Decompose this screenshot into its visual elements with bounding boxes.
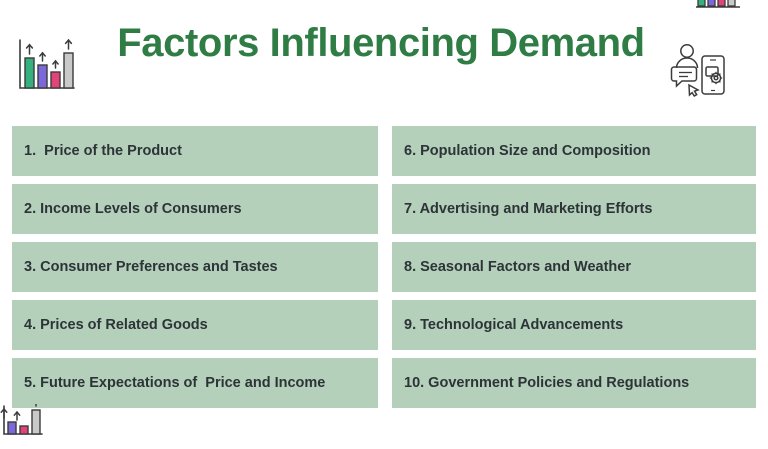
bar-chart-growth-icon — [12, 36, 78, 96]
bar-chart-growth-icon — [0, 404, 46, 444]
list-item[interactable]: 8. Seasonal Factors and Weather — [392, 242, 756, 292]
list-item[interactable]: 6. Population Size and Composition — [392, 126, 756, 176]
slide-header: Factors Influencing Demand — [0, 0, 768, 118]
list-item[interactable]: 7. Advertising and Marketing Efforts — [392, 184, 756, 234]
person-chat-mobile-settings-icon — [668, 40, 730, 102]
factors-column-right: 6. Population Size and Composition 7. Ad… — [392, 126, 756, 408]
bar-chart-color-icon — [694, 0, 742, 16]
slide-canvas: Factors Influencing Demand — [0, 0, 768, 432]
list-item[interactable]: 4. Prices of Related Goods — [12, 300, 378, 350]
factors-column-left: 1. Price of the Product 2. Income Levels… — [12, 126, 378, 408]
list-item[interactable]: 5. Future Expectations of Price and Inco… — [12, 358, 378, 408]
list-item[interactable]: 2. Income Levels of Consumers — [12, 184, 378, 234]
list-item[interactable]: 9. Technological Advancements — [392, 300, 756, 350]
list-item[interactable]: 10. Government Policies and Regulations — [392, 358, 756, 408]
page-title: Factors Influencing Demand — [96, 18, 666, 68]
list-item[interactable]: 3. Consumer Preferences and Tastes — [12, 242, 378, 292]
list-item[interactable]: 1. Price of the Product — [12, 126, 378, 176]
factors-list: 1. Price of the Product 2. Income Levels… — [0, 118, 768, 432]
